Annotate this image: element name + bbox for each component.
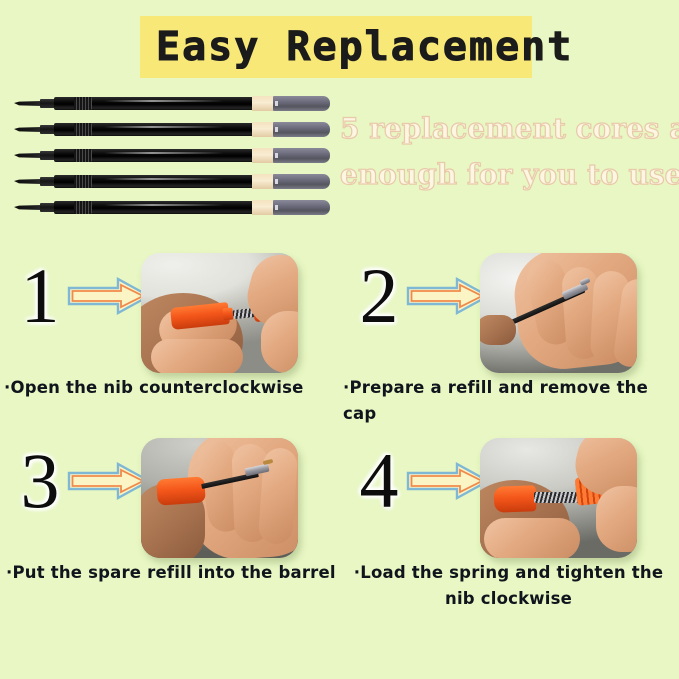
spring — [534, 492, 582, 503]
step-caption: ·Open the nib counterclockwise — [0, 375, 339, 401]
pen-gloss — [104, 204, 224, 206]
pen-cap-notch — [275, 127, 278, 132]
pen-band — [252, 96, 274, 111]
step-number: 1 — [12, 253, 68, 339]
step-number: 2 — [351, 253, 407, 339]
photo-scene — [141, 253, 298, 373]
pen-cap — [273, 200, 330, 215]
refill-pens-group — [14, 96, 330, 218]
infographic-poster: Easy Replacement — [0, 0, 679, 679]
page-title: Easy Replacement — [140, 17, 560, 79]
pen-band — [252, 122, 274, 137]
pen-band — [252, 148, 274, 163]
photo-scene — [480, 253, 637, 373]
pen-cap-notch — [275, 153, 278, 158]
thumb — [480, 315, 516, 345]
pen-cap-notch — [275, 179, 278, 184]
pen-tip-icon — [14, 153, 42, 158]
pen-tip-icon — [14, 127, 42, 132]
pen-cap — [273, 174, 330, 189]
pen-gloss — [104, 126, 224, 128]
pen-cap-notch — [275, 101, 278, 106]
tagline: 5 replacement cores are enough for you t… — [340, 106, 670, 198]
pen-refill — [14, 122, 330, 137]
step-3: 3 ·Put the spare refill into the barrel — [0, 430, 339, 630]
step-photo — [141, 438, 298, 558]
photo-scene — [141, 438, 298, 558]
step-caption-line-2: nib clockwise — [339, 586, 678, 612]
thumb — [596, 486, 637, 552]
pen-gloss — [104, 100, 224, 102]
arrow-icon — [405, 275, 491, 317]
finger — [484, 518, 580, 558]
orange-barrel — [494, 485, 537, 512]
pen-ridges — [74, 97, 92, 110]
step-number: 3 — [12, 438, 68, 524]
pen-refill — [14, 174, 330, 189]
step-photo — [480, 253, 637, 373]
step-photo — [480, 438, 637, 558]
step-1: 1 ·Open the nib counterclockwise — [0, 245, 339, 445]
step-photo — [141, 253, 298, 373]
tagline-line-1: 5 replacement cores are — [340, 106, 670, 152]
finger — [261, 311, 298, 373]
finger — [151, 339, 243, 373]
step-caption-line-1: ·Load the spring and tighten the — [339, 560, 678, 586]
pen-ridges — [74, 175, 92, 188]
pen-cap — [273, 96, 330, 111]
pen-refill — [14, 148, 330, 163]
pen-cap — [273, 148, 330, 163]
pen-refill — [14, 200, 330, 215]
pen-tip-icon — [14, 179, 42, 184]
step-caption: ·Load the spring and tighten the nib clo… — [339, 560, 678, 612]
orange-collar — [222, 308, 233, 321]
step-2: 2 ·Prepare a refill and remove the cap — [339, 245, 678, 445]
pen-gloss — [104, 152, 224, 154]
arrow-icon — [66, 460, 152, 502]
step-caption: ·Put the spare refill into the barrel — [0, 560, 339, 586]
pen-cap — [273, 122, 330, 137]
pen-tip-icon — [14, 205, 42, 210]
tagline-line-2: enough for you to use hen — [340, 152, 670, 198]
pen-band — [252, 174, 274, 189]
pen-ridges — [74, 149, 92, 162]
pen-ridges — [74, 201, 92, 214]
step-number: 4 — [351, 438, 407, 524]
pen-ridges — [74, 123, 92, 136]
arrow-icon — [66, 275, 152, 317]
pen-gloss — [104, 178, 224, 180]
step-caption: ·Prepare a refill and remove the cap — [339, 375, 678, 427]
pen-tip-icon — [14, 101, 42, 106]
pen-refill — [14, 96, 330, 111]
pen-band — [252, 200, 274, 215]
photo-scene — [480, 438, 637, 558]
orange-barrel — [156, 476, 206, 505]
pen-cap-notch — [275, 205, 278, 210]
step-4: 4 ·Load the spring and tighten the nib c… — [339, 430, 678, 630]
arrow-icon — [405, 460, 491, 502]
